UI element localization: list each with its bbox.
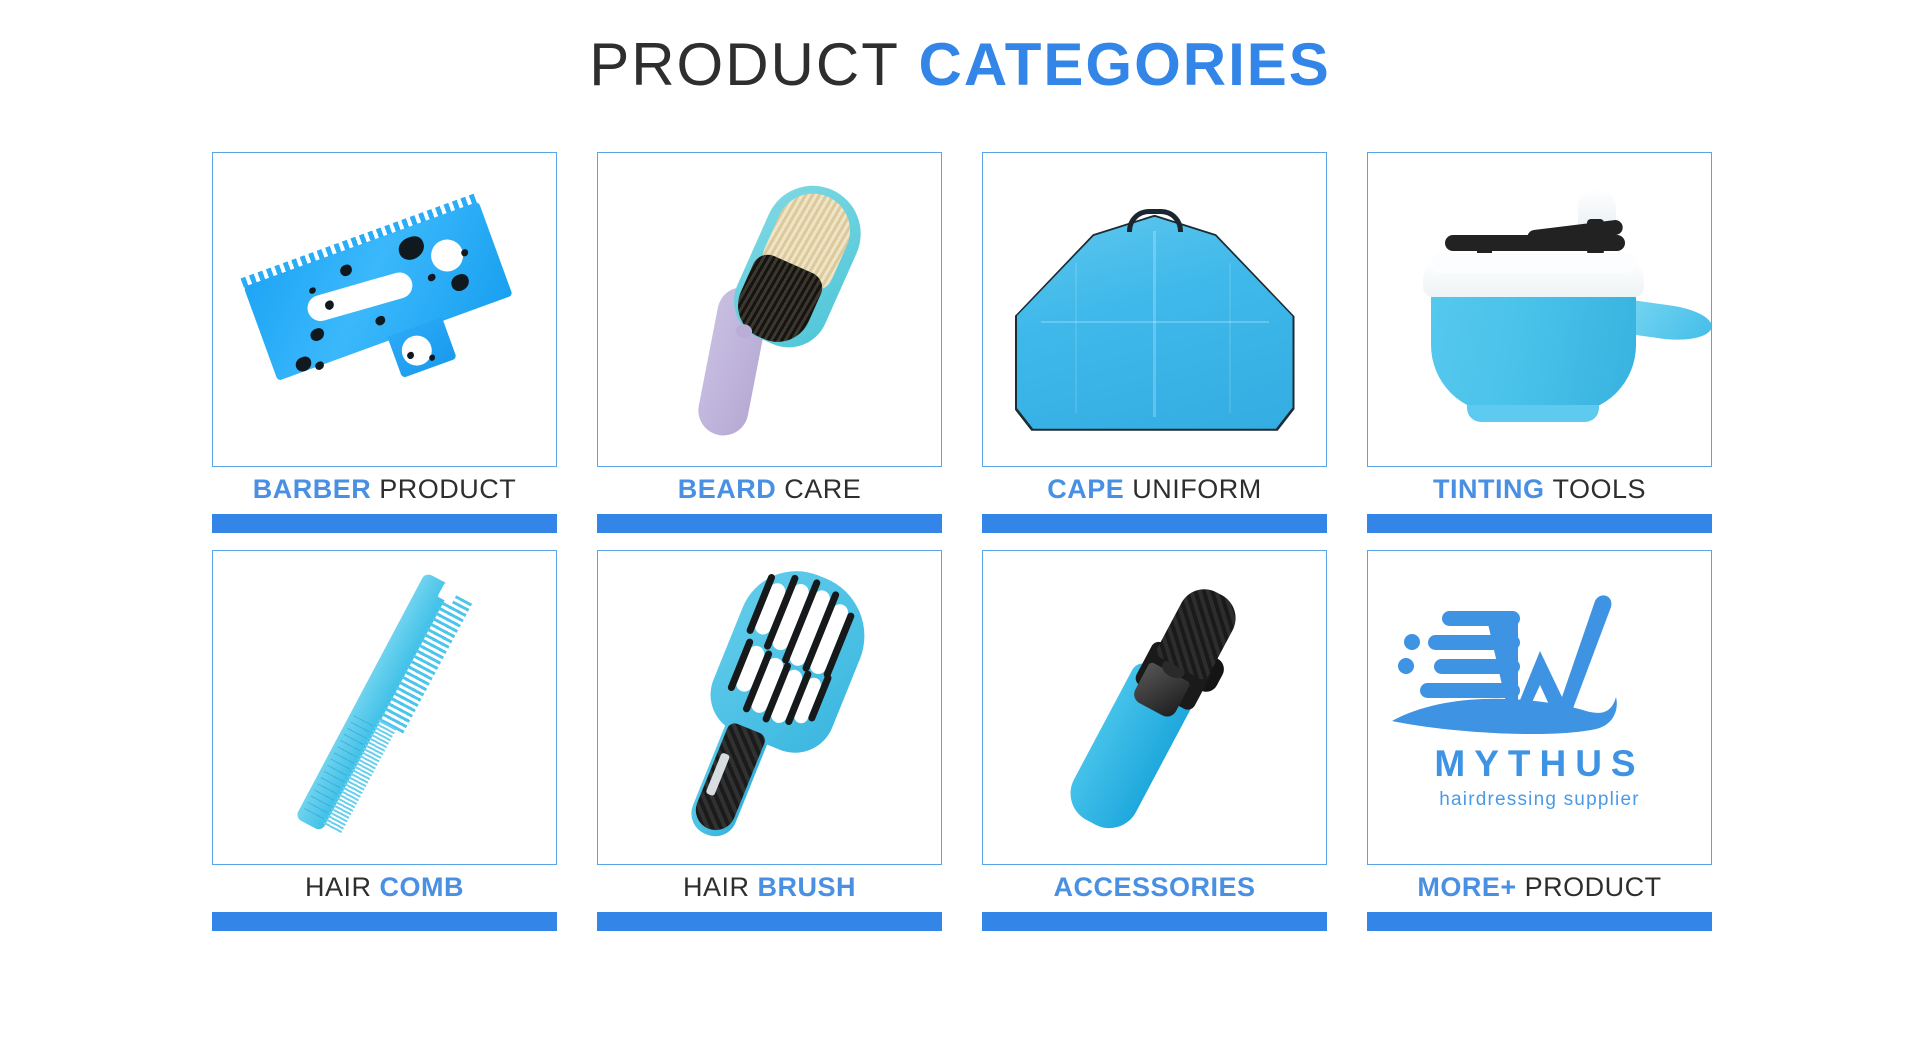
vented-hair-brush-image[interactable] [597, 550, 942, 865]
category-card-barber-product[interactable]: BARBER PRODUCT [212, 152, 557, 522]
page-title: PRODUCT CATEGORIES [0, 32, 1920, 98]
beard-brush-image[interactable] [597, 152, 942, 467]
logo-tagline: hairdressing supplier [1390, 789, 1690, 811]
category-underline-bar [597, 912, 942, 931]
category-card-hair-brush[interactable]: HAIR BRUSH [597, 550, 942, 920]
category-caption: ACCESSORIES [982, 872, 1327, 903]
category-caption: TINTING TOOLS [1367, 474, 1712, 505]
category-underline-bar [597, 514, 942, 533]
category-grid: BARBER PRODUCT BEARD CARE [212, 152, 1712, 920]
caption-plain: HAIR [683, 872, 750, 902]
category-underline-bar [982, 514, 1327, 533]
category-caption: CAPE UNIFORM [982, 474, 1327, 505]
caption-plain: TOOLS [1552, 474, 1646, 504]
tinting-bowl-mixer-image[interactable] [1367, 152, 1712, 467]
logo-brand-name: MYTHUS [1390, 743, 1690, 785]
mythus-mark-icon [1390, 593, 1690, 743]
page-title-light: PRODUCT [589, 31, 900, 98]
caption-highlight: ACCESSORIES [1053, 872, 1255, 902]
barber-razor-plate-image[interactable] [212, 152, 557, 467]
category-underline-bar [1367, 912, 1712, 931]
caption-plain: PRODUCT [1525, 872, 1662, 902]
hair-clip-image[interactable] [982, 550, 1327, 865]
barber-cape-image[interactable] [982, 152, 1327, 467]
caption-plain: CARE [784, 474, 861, 504]
category-caption: BARBER PRODUCT [212, 474, 557, 505]
caption-plain: HAIR [305, 872, 372, 902]
category-card-hair-comb[interactable]: HAIR COMB [212, 550, 557, 920]
category-caption: HAIR COMB [212, 872, 557, 903]
caption-highlight: BEARD [678, 474, 777, 504]
category-underline-bar [982, 912, 1327, 931]
category-card-cape-uniform[interactable]: CAPE UNIFORM [982, 152, 1327, 522]
caption-highlight: COMB [380, 872, 465, 902]
category-caption: BEARD CARE [597, 474, 942, 505]
caption-plain: PRODUCT [379, 474, 516, 504]
category-card-accessories[interactable]: ACCESSORIES [982, 550, 1327, 920]
category-card-beard-care[interactable]: BEARD CARE [597, 152, 942, 522]
product-categories-page: PRODUCT CATEGORIES [0, 0, 1920, 1037]
category-underline-bar [212, 912, 557, 931]
caption-highlight: MORE+ [1417, 872, 1516, 902]
caption-highlight: TINTING [1433, 474, 1545, 504]
hair-comb-image[interactable] [212, 550, 557, 865]
page-title-bold: CATEGORIES [919, 31, 1331, 98]
category-underline-bar [1367, 514, 1712, 533]
category-card-tinting-tools[interactable]: TINTING TOOLS [1367, 152, 1712, 522]
caption-highlight: BARBER [253, 474, 372, 504]
category-caption: HAIR BRUSH [597, 872, 942, 903]
category-caption: MORE+ PRODUCT [1367, 872, 1712, 903]
mythus-logo-image[interactable]: MYTHUS hairdressing supplier [1367, 550, 1712, 865]
caption-highlight: BRUSH [758, 872, 857, 902]
category-underline-bar [212, 514, 557, 533]
category-card-more-product[interactable]: MYTHUS hairdressing supplier MORE+ PRODU… [1367, 550, 1712, 920]
caption-plain: UNIFORM [1132, 474, 1261, 504]
caption-highlight: CAPE [1047, 474, 1124, 504]
